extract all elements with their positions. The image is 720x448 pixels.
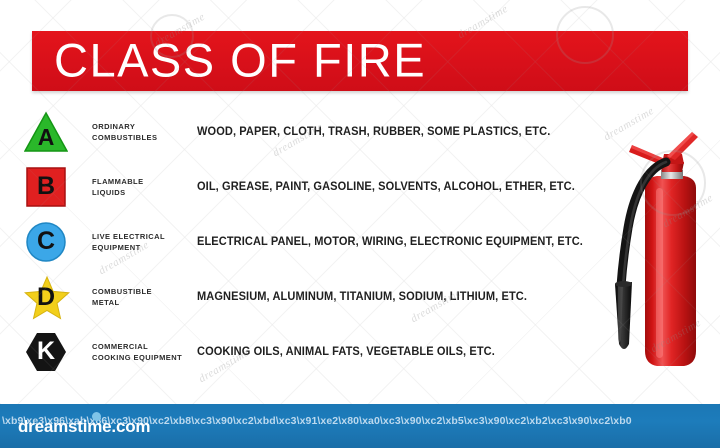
page-title: CLASS OF FIRE	[54, 37, 426, 84]
class-badge-k-hexagon-icon: K	[24, 331, 68, 373]
dreamstime-brand-label: dreamstime.com	[18, 417, 150, 437]
watermark-footer-bar: \xb9\xe3\x96\xab\x86\xc3\x90\xc2\xb8\xc3…	[0, 404, 720, 448]
fire-extinguisher-illustration	[612, 126, 716, 371]
class-category-k: COMMERCIAL COOKING EQUIPMENT	[92, 341, 197, 363]
class-category-a: ORDINARY COMBUSTIBLES	[92, 121, 197, 143]
class-badge-d-star-icon: D	[24, 276, 68, 318]
category-line-2: LIQUIDS	[92, 187, 197, 198]
category-line-1: COMMERCIAL	[92, 341, 197, 352]
badge-cell: D	[0, 269, 92, 324]
class-letter: D	[37, 285, 55, 310]
class-description: WOOD, PAPER, CLOTH, TRASH, RUBBER, SOME …	[197, 125, 603, 139]
class-row-k: K COMMERCIAL COOKING EQUIPMENT COOKING O…	[0, 324, 620, 379]
class-letter: K	[37, 339, 55, 364]
class-badge-c-circle-icon: C	[24, 221, 68, 263]
class-description: ELECTRICAL PANEL, MOTOR, WIRING, ELECTRO…	[197, 235, 603, 249]
class-description-k-cell: COOKING OILS, ANIMAL FATS, VEGETABLE OIL…	[197, 345, 620, 359]
category-line-1: COMBUSTIBLE	[92, 286, 197, 297]
class-list: A ORDINARY COMBUSTIBLES WOOD, PAPER, CLO…	[0, 104, 620, 379]
badge-cell: B	[0, 159, 92, 214]
class-letter: A	[38, 126, 55, 149]
class-letter: C	[37, 229, 55, 254]
class-row-d: D COMBUSTIBLE METAL MAGNESIUM, ALUMINUM,…	[0, 269, 620, 324]
class-row-b: B FLAMMABLE LIQUIDS OIL, GREASE, PAINT, …	[0, 159, 620, 214]
class-description: COOKING OILS, ANIMAL FATS, VEGETABLE OIL…	[197, 345, 603, 359]
category-line-1: LIVE ELECTRICAL	[92, 231, 197, 242]
category-line-2: COOKING EQUIPMENT	[92, 352, 197, 363]
class-description: OIL, GREASE, PAINT, GASOLINE, SOLVENTS, …	[197, 180, 603, 194]
class-badge-b-square-icon: B	[24, 166, 68, 208]
category-line-2: COMBUSTIBLES	[92, 132, 197, 143]
category-line-1: FLAMMABLE	[92, 176, 197, 187]
badge-cell: C	[0, 214, 92, 269]
class-row-c: C LIVE ELECTRICAL EQUIPMENT ELECTRICAL P…	[0, 214, 620, 269]
class-row-a: A ORDINARY COMBUSTIBLES WOOD, PAPER, CLO…	[0, 104, 620, 159]
badge-cell: A	[0, 104, 92, 159]
class-description: MAGNESIUM, ALUMINUM, TITANIUM, SODIUM, L…	[197, 290, 603, 304]
dreamstime-logo-dot	[92, 412, 101, 421]
category-line-2: EQUIPMENT	[92, 242, 197, 253]
category-line-2: METAL	[92, 297, 197, 308]
header-banner: CLASS OF FIRE	[32, 31, 688, 91]
class-description-c-cell: ELECTRICAL PANEL, MOTOR, WIRING, ELECTRO…	[197, 235, 620, 249]
class-category-b: FLAMMABLE LIQUIDS	[92, 176, 197, 198]
class-category-d: COMBUSTIBLE METAL	[92, 286, 197, 308]
class-description-b-cell: OIL, GREASE, PAINT, GASOLINE, SOLVENTS, …	[197, 180, 620, 194]
class-letter: B	[37, 174, 55, 199]
badge-cell: K	[0, 324, 92, 379]
class-description-a-cell: WOOD, PAPER, CLOTH, TRASH, RUBBER, SOME …	[197, 125, 620, 139]
class-badge-a-triangle-icon: A	[24, 111, 68, 153]
category-line-1: ORDINARY	[92, 121, 197, 132]
class-description-d-cell: MAGNESIUM, ALUMINUM, TITANIUM, SODIUM, L…	[197, 290, 620, 304]
class-category-c: LIVE ELECTRICAL EQUIPMENT	[92, 231, 197, 253]
